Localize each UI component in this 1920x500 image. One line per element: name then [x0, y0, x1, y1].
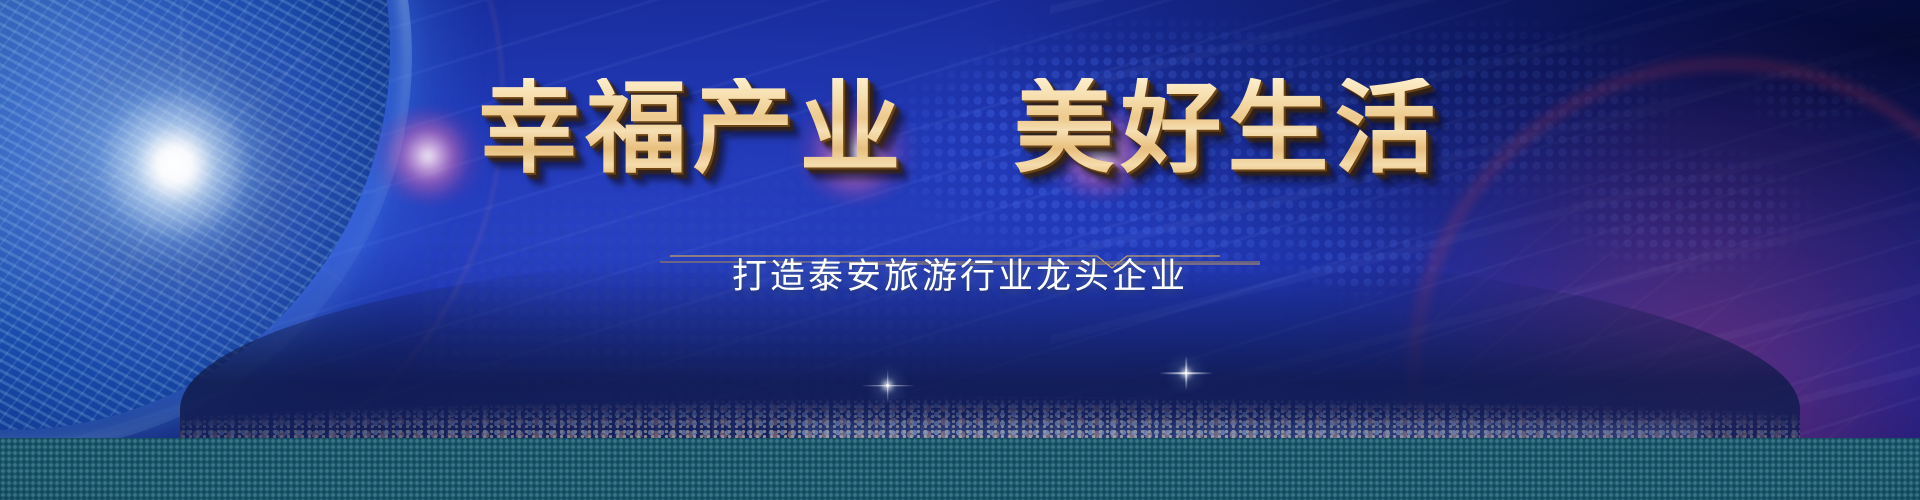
- city-star-flare-icon: [886, 384, 889, 387]
- city-star-flare-icon: [1185, 372, 1187, 374]
- city-reflection: [800, 424, 1700, 438]
- title-block: 幸福产业 美好生活 幸福产业 美好生活: [0, 68, 1920, 188]
- page-title: 幸福产业 美好生活: [478, 78, 1441, 179]
- page-subtitle: 打造泰安旅游行业龙头企业: [732, 248, 1188, 299]
- subtitle-block: 打造泰安旅游行业龙头企业: [0, 243, 1920, 303]
- bottom-teal-band: [0, 438, 1920, 500]
- hero-banner: 幸福产业 美好生活 幸福产业 美好生活 打造泰安旅游行业龙头企业: [0, 0, 1920, 500]
- title-glow-bloom-icon: [368, 108, 488, 204]
